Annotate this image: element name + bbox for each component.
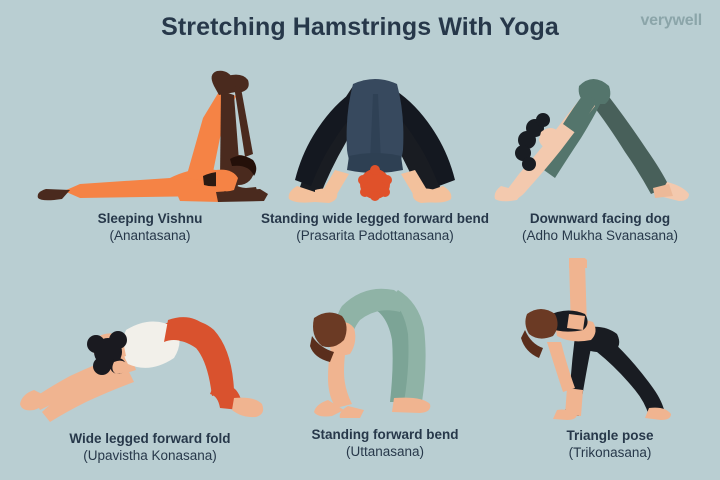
pose-sanskrit-name: (Upavistha Konasana): [10, 447, 290, 464]
pose-card-standing-wide-legged-forward-bend: Standing wide legged forward bend (Prasa…: [255, 58, 495, 245]
pose-caption: Standing forward bend (Uttanasana): [270, 426, 500, 461]
pose-name: Triangle pose: [495, 427, 720, 444]
pose-card-sleeping-vishnu: Sleeping Vishnu (Anantasana): [10, 58, 290, 245]
pose-name: Standing wide legged forward bend: [255, 210, 495, 227]
pose-name: Sleeping Vishnu: [10, 210, 290, 227]
pose-caption: Triangle pose (Trikonasana): [495, 427, 720, 462]
pose-caption: Downward facing dog (Adho Mukha Svanasan…: [480, 210, 720, 245]
pose-caption: Wide legged forward fold (Upavistha Kona…: [10, 430, 290, 465]
pose-sanskrit-name: (Uttanasana): [270, 443, 500, 460]
pose-caption: Sleeping Vishnu (Anantasana): [10, 210, 290, 245]
standing-forward-bend-pose-icon: [298, 262, 473, 422]
wide-legged-forward-bend-pose-icon: [275, 58, 475, 206]
pose-name: Wide legged forward fold: [10, 430, 290, 447]
page-title: Stretching Hamstrings With Yoga: [0, 13, 720, 42]
brand-logo: verywell: [640, 12, 702, 30]
pose-caption: Standing wide legged forward bend (Prasa…: [255, 210, 495, 245]
seated-wide-fold-pose-icon: [18, 278, 283, 426]
pose-name: Downward facing dog: [480, 210, 720, 227]
pose-card-standing-forward-bend: Standing forward bend (Uttanasana): [270, 262, 500, 461]
pose-card-triangle-pose: Triangle pose (Trikonasana): [495, 258, 720, 462]
infographic-canvas: Stretching Hamstrings With Yoga verywell: [0, 0, 720, 480]
pose-sanskrit-name: (Prasarita Padottanasana): [255, 227, 495, 244]
pose-sanskrit-name: (Anantasana): [10, 227, 290, 244]
pose-sanskrit-name: (Trikonasana): [495, 444, 720, 461]
pose-card-downward-facing-dog: Downward facing dog (Adho Mukha Svanasan…: [480, 58, 720, 245]
pose-name: Standing forward bend: [270, 426, 500, 443]
side-lying-leg-raise-pose-icon: [20, 58, 280, 206]
downward-dog-pose-icon: [493, 58, 708, 206]
pose-card-wide-legged-forward-fold: Wide legged forward fold (Upavistha Kona…: [10, 278, 290, 465]
triangle-pose-icon: [513, 258, 708, 423]
pose-sanskrit-name: (Adho Mukha Svanasana): [480, 227, 720, 244]
